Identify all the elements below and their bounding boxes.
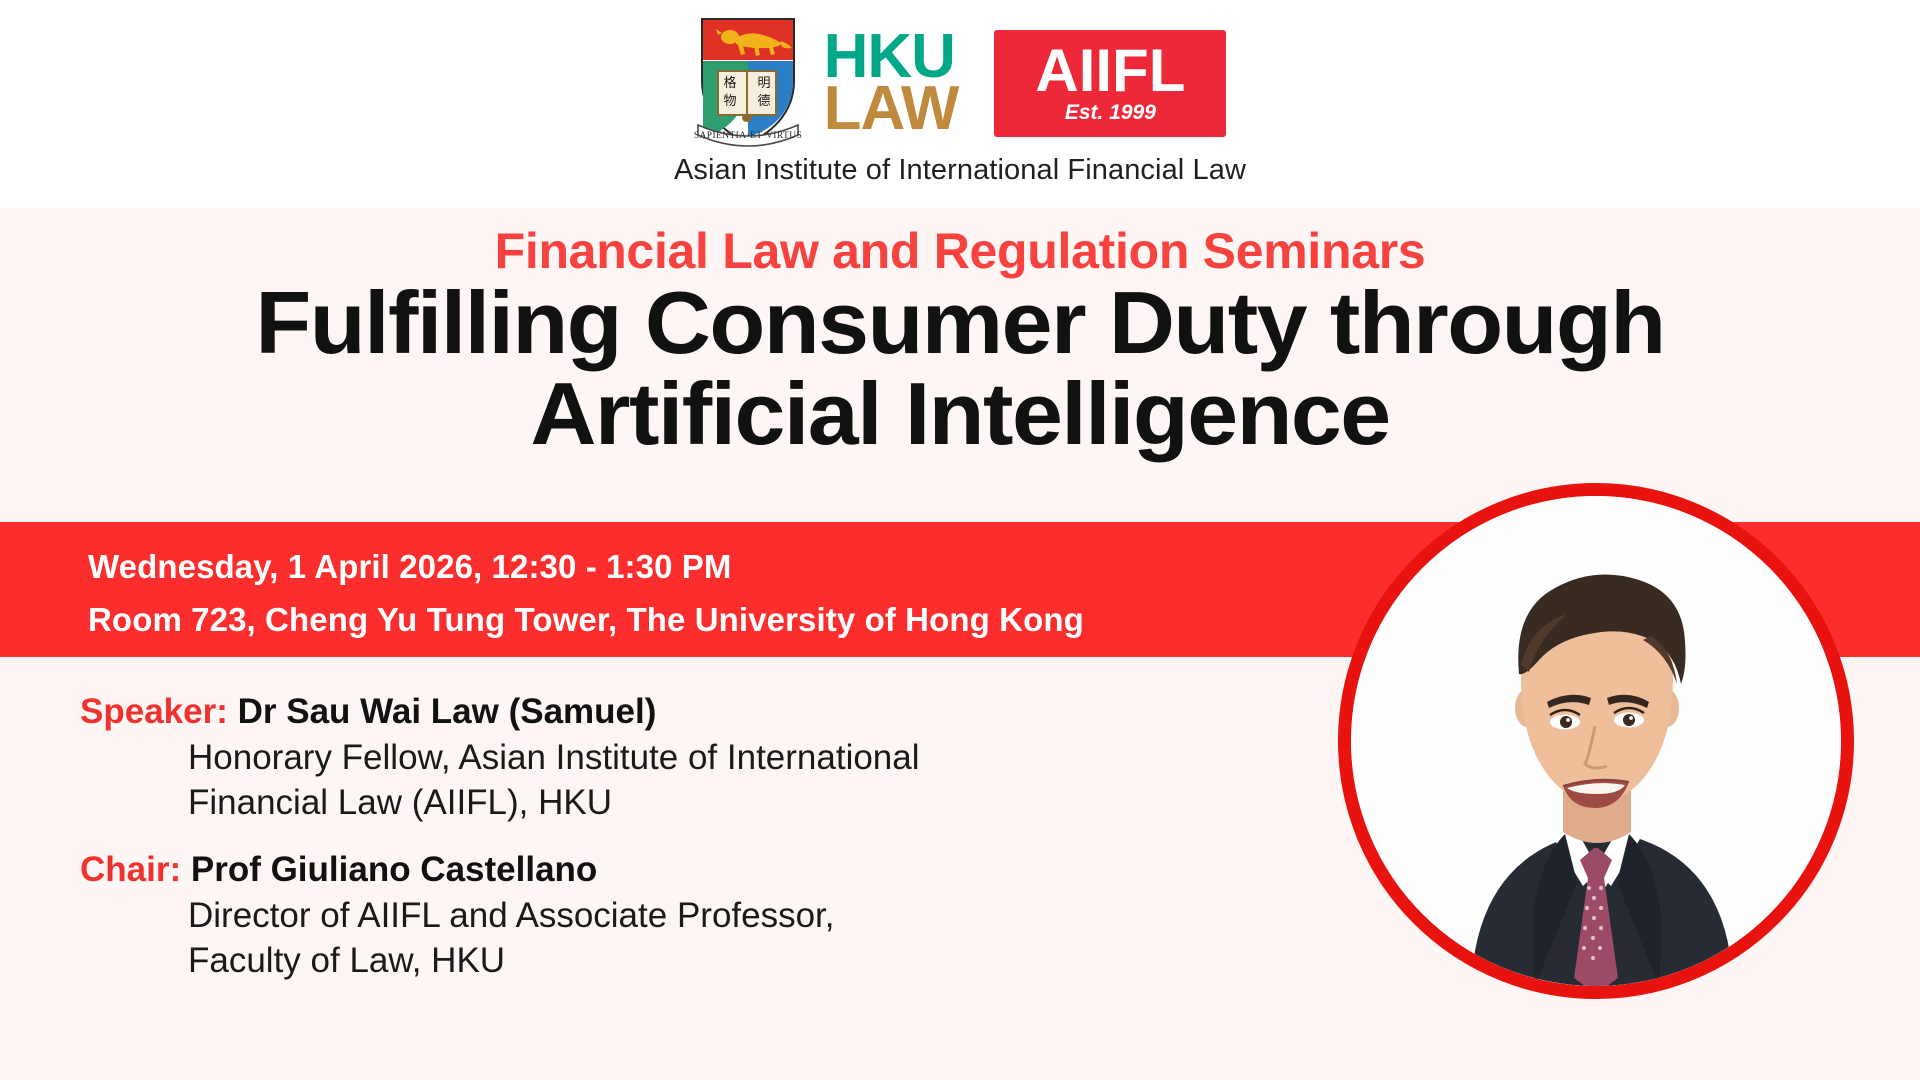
svg-text:明: 明 — [757, 76, 770, 91]
chair-affiliation-line-1: Director of AIIFL and Associate Professo… — [80, 893, 1320, 939]
chair-role-label: Chair: — [80, 850, 181, 889]
hku-law-wordmark: HKU LAW — [824, 31, 959, 135]
seminar-series-label: Financial Law and Regulation Seminars — [0, 222, 1920, 280]
portrait-illustration — [1351, 496, 1841, 986]
speaker-name: Dr Sau Wai Law (Samuel) — [238, 692, 657, 731]
speaker-role-label: Speaker: — [80, 692, 228, 731]
svg-text:SAPIENTIA·ET·VIRTUS: SAPIENTIA·ET·VIRTUS — [694, 131, 802, 141]
logo-row: 格 物 明 德 SAPIENTIA·ET·VIRTUS HKU LAW AIIF… — [694, 8, 1227, 158]
svg-text:物: 物 — [723, 94, 736, 109]
speaker-headline: Speaker: Dr Sau Wai Law (Samuel) — [80, 690, 1320, 735]
avatar — [1351, 496, 1841, 986]
page-title: Fulfilling Consumer Duty through Artific… — [0, 278, 1920, 459]
law-word: LAW — [824, 83, 959, 135]
chair-block: Chair: Prof Giuliano Castellano Director… — [80, 848, 1320, 984]
aiifl-word: AIIFL — [1035, 42, 1185, 99]
institute-name: Asian Institute of International Financi… — [674, 154, 1246, 187]
hku-crest-icon: 格 物 明 德 SAPIENTIA·ET·VIRTUS — [694, 13, 802, 153]
chair-headline: Chair: Prof Giuliano Castellano — [80, 848, 1320, 893]
speaker-block: Speaker: Dr Sau Wai Law (Samuel) Honorar… — [80, 690, 1320, 826]
speaker-affiliation-line-1: Honorary Fellow, Asian Institute of Inte… — [80, 735, 1320, 781]
title-line-1: Fulfilling Consumer Duty through — [0, 278, 1920, 369]
title-line-2: Artificial Intelligence — [0, 369, 1920, 460]
speaker-portrait-frame — [1338, 483, 1854, 999]
aiifl-established-text: Est. 1999 — [1065, 101, 1156, 125]
svg-text:格: 格 — [723, 75, 736, 91]
people-section: Speaker: Dr Sau Wai Law (Samuel) Honorar… — [80, 690, 1320, 1006]
chair-affiliation-line-2: Faculty of Law, HKU — [80, 938, 1320, 984]
svg-text:德: 德 — [757, 94, 770, 109]
header-logo-bar: 格 物 明 德 SAPIENTIA·ET·VIRTUS HKU LAW AIIF… — [0, 0, 1920, 208]
chair-name: Prof Giuliano Castellano — [191, 850, 597, 889]
aiifl-logo: AIIFL Est. 1999 — [994, 30, 1226, 137]
speaker-affiliation-line-2: Financial Law (AIIFL), HKU — [80, 780, 1320, 826]
